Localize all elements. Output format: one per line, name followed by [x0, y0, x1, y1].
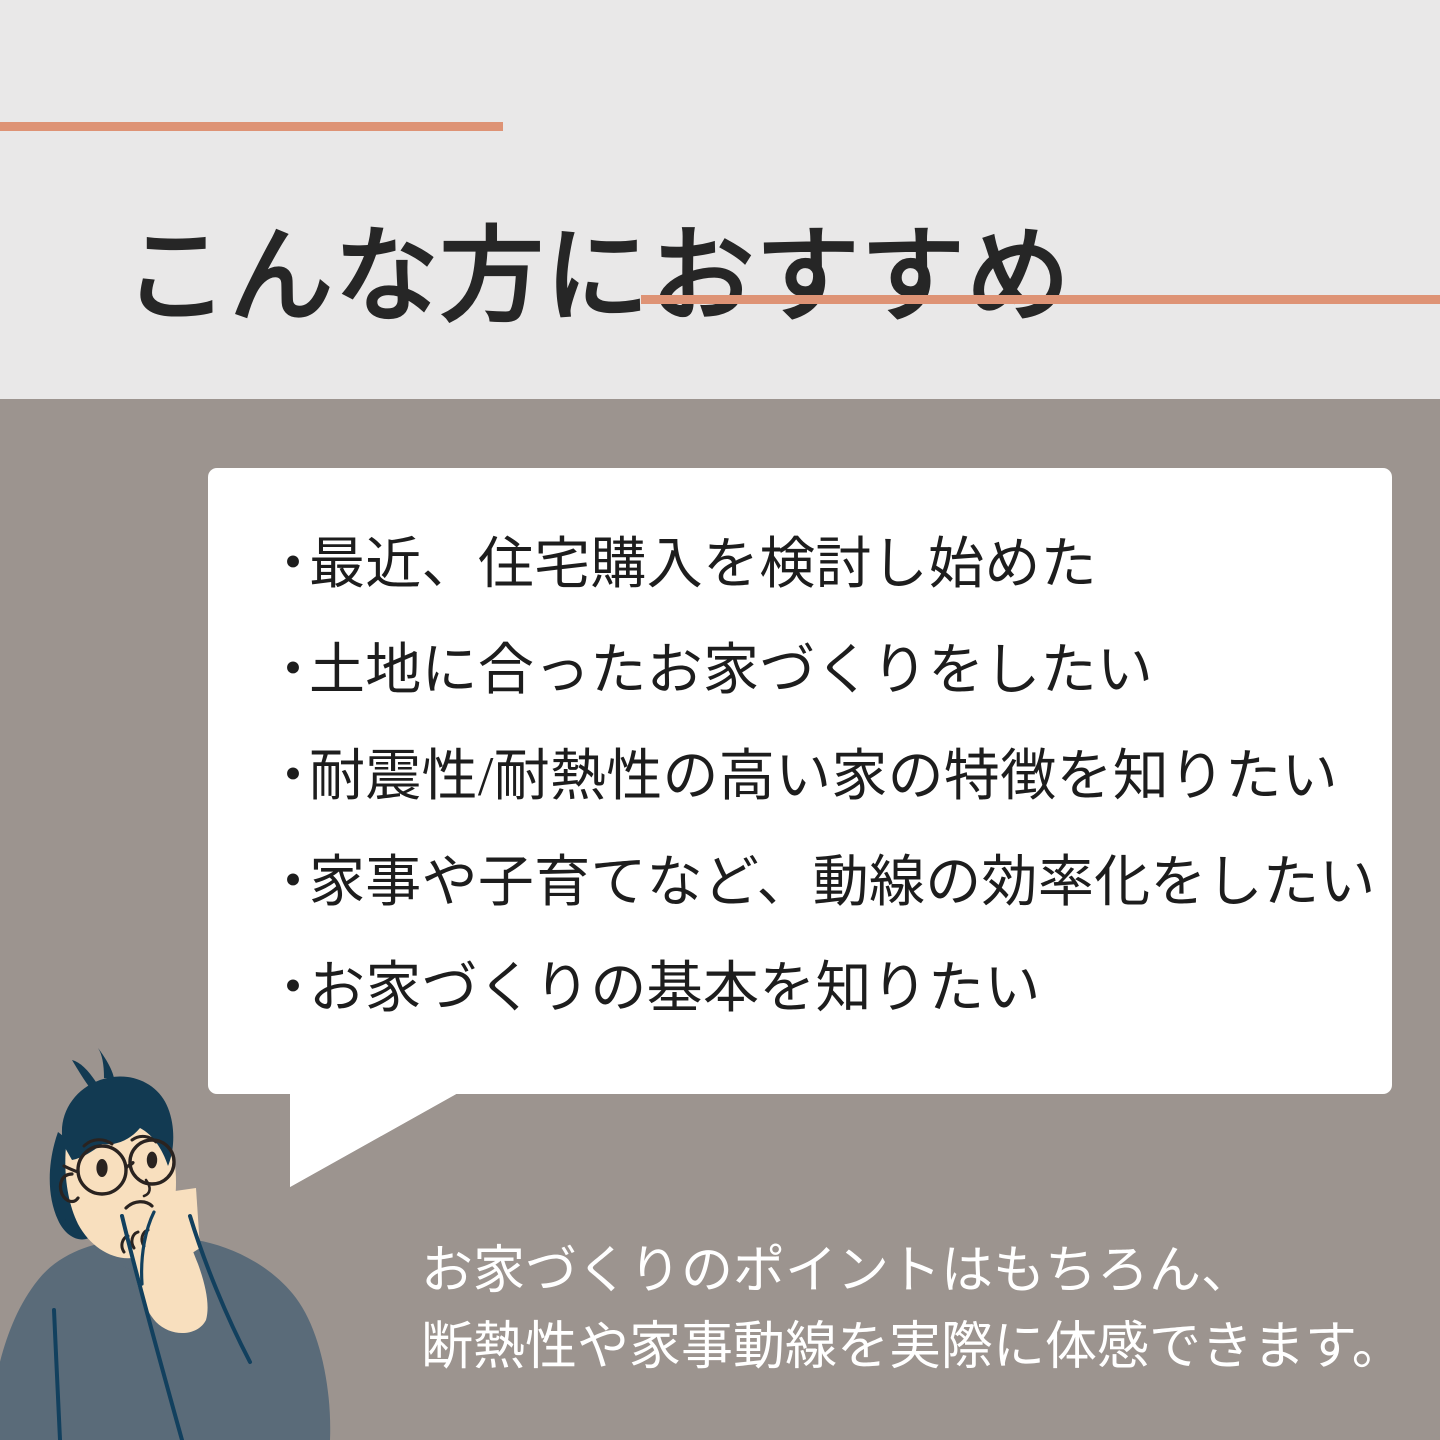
caption-line-2: 断熱性や家事動線を実際に体感できます。 [421, 1310, 1404, 1386]
page-title: こんな方におすすめ [124, 220, 1071, 336]
footer-caption: お家づくりのポイントはもちろん、 断熱性や家事動線を実際に体感できます。 [421, 1234, 1404, 1387]
accent-line-top [0, 122, 503, 131]
list-item: ・ 耐震性/耐熱性の高い家の特徴を知りたい [265, 749, 1338, 805]
accent-line-bottom [641, 295, 1440, 304]
list-item: ・ 家事や子育てなど、動線の効率化をしたい [265, 855, 1376, 911]
recommendation-list: ・ 最近、住宅購入を検討し始めた ・ 土地に合ったお家づくりをしたい ・ 耐震性… [208, 468, 1392, 1094]
header-band: こんな方におすすめ [0, 0, 1440, 399]
list-item-label: 土地に合ったお家づくりをしたい [309, 643, 1153, 699]
list-item-label: お家づくりの基本を知りたい [309, 961, 1041, 1017]
bullet-point-icon: ・ [265, 643, 309, 699]
slide-canvas: こんな方におすすめ ・ 最近、住宅購入を検討し始めた ・ 土地に合ったお家づくり… [0, 0, 1440, 1440]
list-item-label: 耐震性/耐熱性の高い家の特徴を知りたい [309, 749, 1338, 805]
list-item: ・ 最近、住宅購入を検討し始めた [265, 537, 1097, 593]
bullet-point-icon: ・ [265, 749, 309, 805]
bullet-point-icon: ・ [265, 855, 309, 911]
list-item: ・ お家づくりの基本を知りたい [265, 961, 1041, 1017]
bullet-point-icon: ・ [265, 961, 309, 1017]
list-item-label: 最近、住宅購入を検討し始めた [309, 537, 1097, 593]
caption-line-1: お家づくりのポイントはもちろん、 [421, 1234, 1404, 1310]
bullet-point-icon: ・ [265, 537, 309, 593]
thinking-man-illustration [0, 1048, 360, 1440]
list-item: ・ 土地に合ったお家づくりをしたい [265, 643, 1153, 699]
list-item-label: 家事や子育てなど、動線の効率化をしたい [309, 855, 1376, 911]
speech-bubble: ・ 最近、住宅購入を検討し始めた ・ 土地に合ったお家づくりをしたい ・ 耐震性… [208, 468, 1392, 1094]
